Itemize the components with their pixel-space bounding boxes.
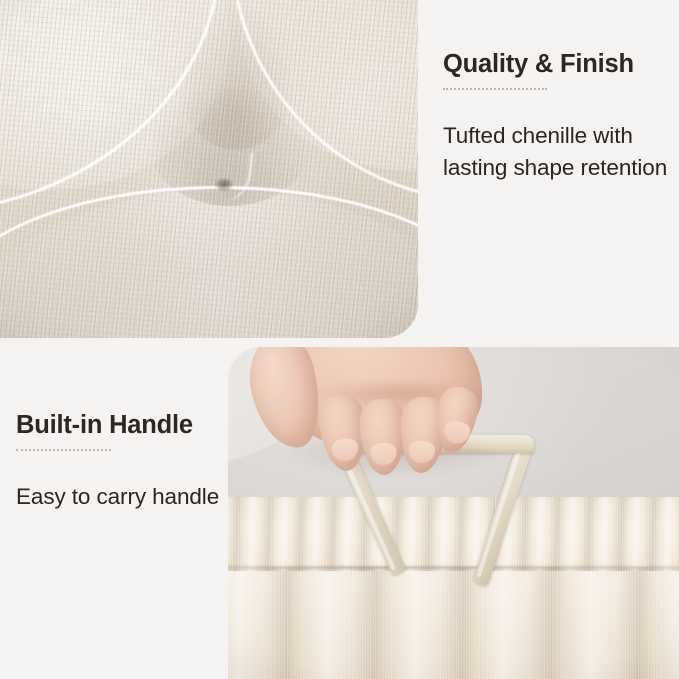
feature-heading-built-in-handle: Built-in Handle: [16, 411, 222, 440]
fingernail: [331, 437, 359, 462]
cushion-fabric-surface: [0, 0, 418, 338]
feature-text-block: Quality & Finish Tufted chenille with la…: [443, 50, 675, 185]
fingernail: [408, 440, 435, 464]
hand-gripping-handle: [244, 347, 494, 497]
product-feature-infographic: Quality & Finish Tufted chenille with la…: [0, 0, 679, 679]
feature-body-built-in-handle: Easy to carry handle: [16, 451, 222, 513]
tuft-button-dimple: [215, 178, 233, 191]
cushion-body: [228, 497, 679, 679]
carry-handle-photo: [228, 347, 679, 679]
feature-heading-quality-finish: Quality & Finish: [443, 50, 675, 79]
cushion-fibre-texture: [228, 497, 679, 679]
feature-panel-built-in-handle: Built-in Handle Easy to carry handle: [0, 347, 228, 679]
feature-body-quality-finish: Tufted chenille with lasting shape reten…: [443, 90, 675, 184]
feature-panel-quality-finish: Quality & Finish Tufted chenille with la…: [430, 0, 679, 338]
fingernail: [370, 443, 397, 466]
tufted-cushion-photo: [0, 0, 418, 338]
feature-text-block: Built-in Handle Easy to carry handle: [16, 411, 222, 513]
